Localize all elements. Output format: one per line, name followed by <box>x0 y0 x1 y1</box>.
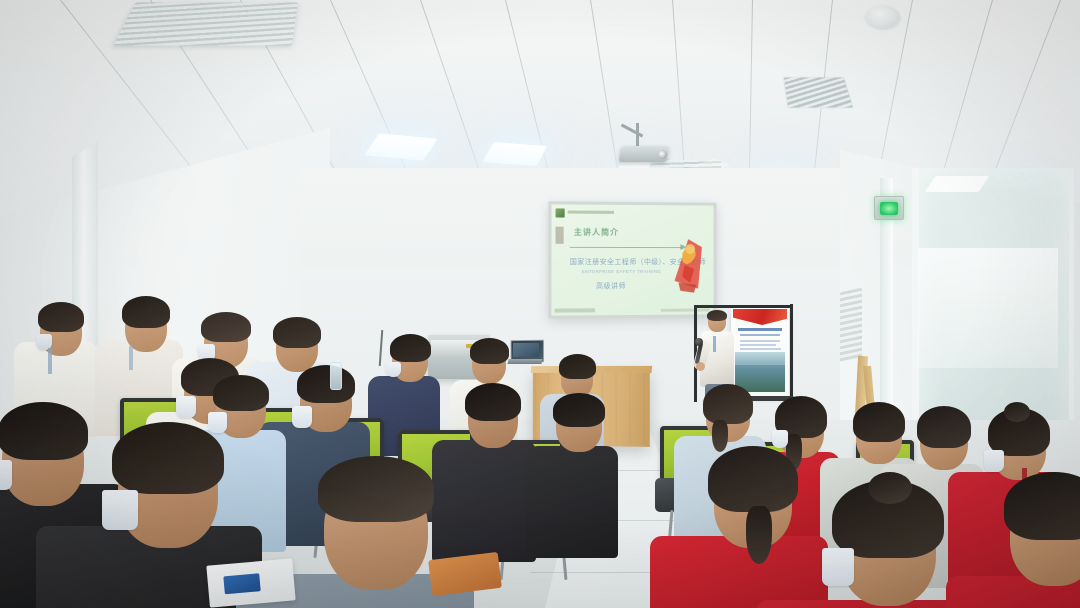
attendee-hair <box>318 456 434 522</box>
face-mask <box>0 460 12 490</box>
attendee-hair <box>465 383 521 421</box>
frosted-glass-film <box>918 248 1058 368</box>
attendee-hair <box>553 393 605 427</box>
attendee-hair <box>112 422 224 494</box>
face-mask <box>208 412 227 433</box>
face-mask <box>176 396 196 418</box>
attendee-hair <box>122 296 170 328</box>
attendee-hair <box>853 402 905 442</box>
face-mask <box>822 548 854 586</box>
face-mask <box>772 430 788 448</box>
water-bottle[interactable] <box>330 362 342 390</box>
projector-lens <box>658 150 667 159</box>
attendee-hair <box>708 446 798 512</box>
presenter-hair <box>707 310 727 321</box>
presentation-slide: 主讲人简介 国家注册安全工程师（中级）、安全评价师 ENTERPRISE SAF… <box>551 204 713 315</box>
banner-headline <box>738 328 782 331</box>
lanyard <box>48 348 52 374</box>
slide-body-line-3: 高级讲师 <box>596 281 626 291</box>
notebook-logo-icon <box>223 573 260 594</box>
exit-running-man-glyph <box>880 202 898 215</box>
attendee-hair <box>559 354 596 379</box>
attendee-torso <box>526 446 618 558</box>
attendee-hair <box>201 312 251 342</box>
wall-air-vent-icon <box>840 288 862 363</box>
slide-title: 主讲人简介 <box>574 227 619 238</box>
slide-body-line-2: ENTERPRISE SAFETY TRAINING <box>582 269 661 274</box>
attendee-hair <box>297 365 355 403</box>
laptop-keyboard <box>507 359 542 364</box>
glass-reflection <box>925 176 990 192</box>
banner-text-line <box>740 340 780 342</box>
face-mask <box>102 490 138 530</box>
lanyard <box>129 346 133 370</box>
attendee-torso <box>432 440 536 562</box>
led-panel-light <box>482 142 547 166</box>
attendee-hair <box>38 302 84 332</box>
attendee-hair <box>917 406 971 448</box>
slide-arrow-icon <box>570 247 682 248</box>
attendee-hair <box>213 375 269 411</box>
face-mask <box>984 450 1004 472</box>
banner-subheading <box>740 334 780 336</box>
slide-logo-icon <box>556 208 565 217</box>
slide-accent-bar <box>556 227 564 244</box>
face-mask <box>292 406 312 428</box>
hair-bun <box>1004 402 1030 422</box>
ponytail <box>746 506 772 564</box>
face-mask <box>386 362 401 377</box>
projection-screen: 主讲人简介 国家注册安全工程师（中级）、安全评价师 ENTERPRISE SAF… <box>548 201 716 318</box>
smoke-detector-icon <box>866 6 900 28</box>
presenter-lanyard-badge <box>713 336 716 352</box>
slide-logo-wordmark <box>568 211 614 214</box>
attendee-hair <box>703 384 753 424</box>
presenter-hand <box>696 362 705 371</box>
attendee-hair <box>390 334 431 362</box>
slide-speaker-illustration <box>669 231 708 295</box>
banner-text-line <box>740 344 776 346</box>
banner-stand-pole <box>790 304 793 400</box>
exit-sign-icon <box>874 196 904 220</box>
ponytail <box>712 420 728 452</box>
hair-bun <box>868 472 912 504</box>
attendee-hair <box>470 338 509 364</box>
microphone-capsule <box>695 338 703 346</box>
attendee-hair <box>0 402 88 460</box>
slide-footer-mark <box>555 308 595 312</box>
photograph-scene: 主讲人简介 国家注册安全工程师（中级）、安全评价师 ENTERPRISE SAF… <box>0 0 1080 608</box>
air-vent-icon <box>113 2 298 45</box>
banner-image-sky <box>735 352 785 365</box>
attendee-hair <box>273 317 321 348</box>
notebook[interactable] <box>206 558 295 607</box>
banner-text-line <box>740 348 781 350</box>
air-vent-icon <box>783 77 854 109</box>
laptop-display <box>513 343 539 357</box>
